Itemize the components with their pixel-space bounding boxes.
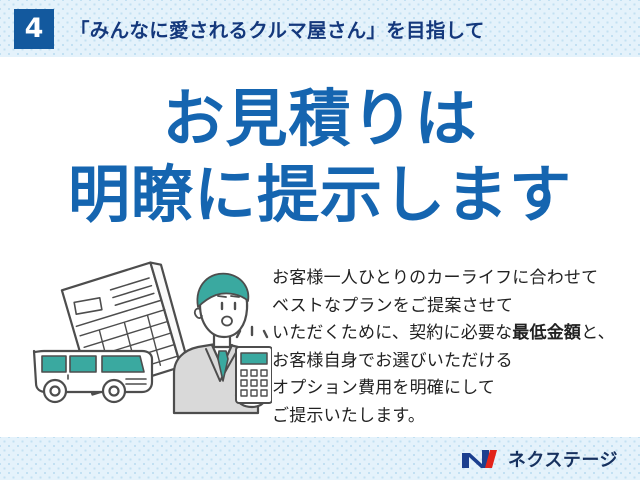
- headline-line-2: 明瞭に提示します: [0, 163, 640, 227]
- promo-banner: 4 「みんなに愛されるクルマ屋さん」を目指して お見積りは 明瞭に提示します: [0, 0, 640, 480]
- lower-content: 見積書 お客様一人ひとりのカーライフに合わせて ベストなプランをご提案させて い…: [0, 247, 640, 437]
- body-line-3-suffix: と、: [581, 323, 615, 343]
- calculator-illustration: [236, 347, 272, 403]
- banner-header: 4 「みんなに愛されるクルマ屋さん」を目指して: [0, 0, 640, 57]
- nextage-logo-text: ネクステージ: [508, 446, 618, 472]
- body-line-6: ご提示いたします。: [272, 403, 632, 431]
- body-line-1: お客様一人ひとりのカーライフに合わせて: [272, 265, 632, 293]
- body-line-4: お客様自身でお選びいただける: [272, 348, 632, 376]
- nextage-n-mark-icon: [461, 448, 501, 470]
- headline-block: お見積りは 明瞭に提示します: [0, 57, 640, 227]
- body-line-2: ベストなプランをご提案させて: [272, 293, 632, 321]
- sales-illustration: 見積書: [22, 255, 272, 437]
- body-line-3: いただくために、契約に必要な最低金額と、: [272, 320, 632, 348]
- body-line-3-prefix: いただくために、契約に必要な: [272, 323, 512, 343]
- section-number-badge: 4: [14, 9, 54, 49]
- banner-footer: ネクステージ: [0, 437, 640, 480]
- banner-body: お見積りは 明瞭に提示します: [0, 57, 640, 437]
- nextage-logo: ネクステージ: [461, 446, 618, 472]
- headline-line-1: お見積りは: [0, 87, 640, 151]
- header-title: 「みんなに愛されるクルマ屋さん」を目指して: [70, 14, 485, 43]
- body-copy: お客様一人ひとりのカーライフに合わせて ベストなプランをご提案させて いただくた…: [272, 265, 632, 430]
- body-line-5: オプション費用を明確にして: [272, 375, 632, 403]
- illustration-svg: [22, 255, 272, 437]
- body-line-3-emphasis: 最低金額: [512, 323, 581, 343]
